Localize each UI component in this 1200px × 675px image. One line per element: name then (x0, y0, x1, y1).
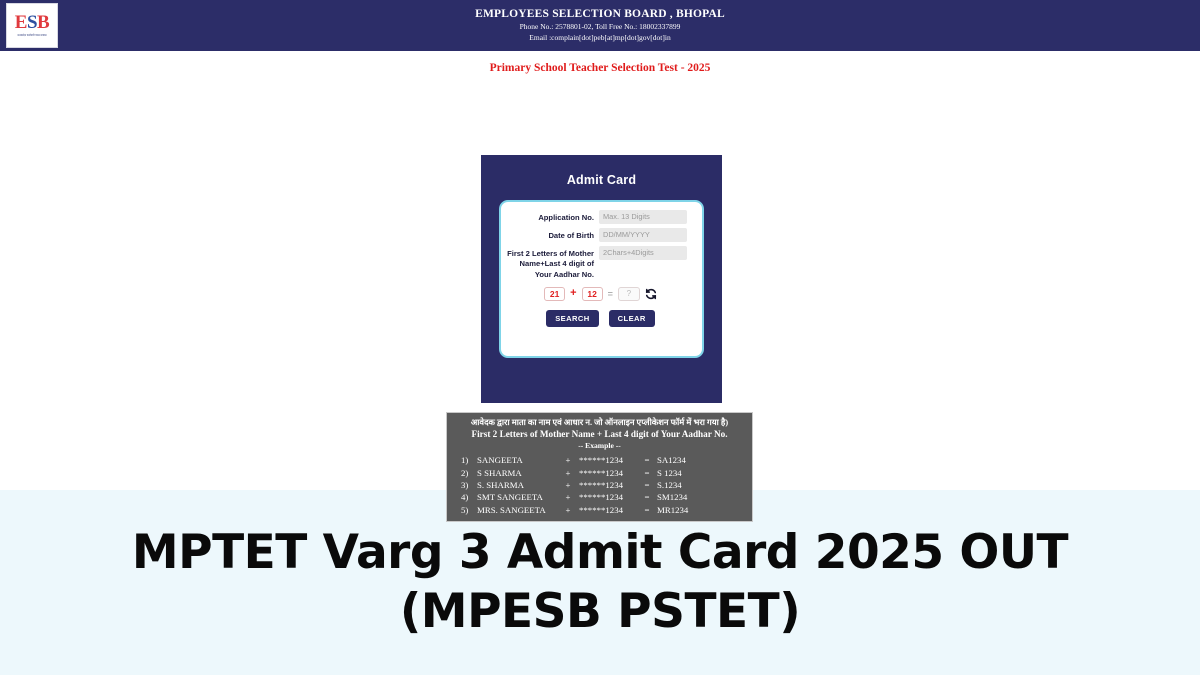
captcha-operand-left: 21 (544, 287, 565, 301)
example-result: S.1234 (655, 479, 690, 491)
date-of-birth-input[interactable] (599, 228, 687, 242)
example-plus: + (559, 479, 577, 491)
header-text-block: EMPLOYEES SELECTION BOARD , BHOPAL Phone… (475, 8, 725, 44)
banner-headline-line2: (MPESB PSTET) (400, 583, 800, 642)
board-phone: Phone No.: 2578801-02, Toll Free No.: 18… (475, 22, 725, 33)
example-index: 5) (459, 504, 475, 516)
admit-card-panel: Admit Card Application No. Date of Birth… (481, 155, 722, 403)
example-aadhar: ******1234 (577, 491, 639, 503)
example-index: 2) (459, 467, 475, 479)
table-row: 5) MRS. SANGEETA + ******1234 = MR1234 (459, 504, 690, 516)
site-header: ESB मध्यप्रदेश कर्मचारी चयन मण्डल EMPLOY… (0, 0, 1200, 51)
example-plus: + (559, 504, 577, 516)
exam-title: Primary School Teacher Selection Test - … (0, 51, 1200, 74)
example-index: 1) (459, 454, 475, 466)
captcha-answer-input[interactable]: ? (618, 287, 640, 301)
example-name: S SHARMA (475, 467, 559, 479)
example-help-box: आवेदक द्वारा माता का नाम एवं आधार न. जो … (446, 412, 753, 522)
board-title: EMPLOYEES SELECTION BOARD , BHOPAL (475, 8, 725, 20)
esb-logo-subtext: मध्यप्रदेश कर्मचारी चयन मण्डल (8, 34, 56, 37)
board-email: Email :complain[dot]peb[at]mp[dot]gov[do… (475, 33, 725, 44)
field-row-application-no: Application No. (507, 210, 694, 224)
example-aadhar: ******1234 (577, 454, 639, 466)
example-equals: = (639, 467, 655, 479)
example-result: SA1234 (655, 454, 690, 466)
example-result: S 1234 (655, 467, 690, 479)
table-row: 4) SMT SANGEETA + ******1234 = SM1234 (459, 491, 690, 503)
table-row: 1) SANGEETA + ******1234 = SA1234 (459, 454, 690, 466)
form-buttons: SEARCH CLEAR (507, 310, 694, 327)
captcha-row: 21 + 12 = ? (507, 287, 694, 301)
search-button[interactable]: SEARCH (546, 310, 598, 327)
application-no-input[interactable] (599, 210, 687, 224)
example-result: SM1234 (655, 491, 690, 503)
example-aadhar: ******1234 (577, 467, 639, 479)
mother-aadhar-input[interactable] (599, 246, 687, 260)
esb-logo-icon: ESB (15, 13, 49, 32)
mother-aadhar-label: First 2 Letters of Mother Name+Last 4 di… (507, 246, 599, 280)
example-equals: = (639, 504, 655, 516)
example-equals: = (639, 479, 655, 491)
example-equals: = (639, 454, 655, 466)
example-name: S. SHARMA (475, 479, 559, 491)
admit-card-heading: Admit Card (481, 155, 722, 187)
example-aadhar: ******1234 (577, 504, 639, 516)
example-plus: + (559, 454, 577, 466)
field-row-mother-aadhar: First 2 Letters of Mother Name+Last 4 di… (507, 246, 694, 280)
example-index: 4) (459, 491, 475, 503)
table-row: 2) S SHARMA + ******1234 = S 1234 (459, 467, 690, 479)
example-english-note: First 2 Letters of Mother Name + Last 4 … (453, 429, 746, 441)
example-name: SMT SANGEETA (475, 491, 559, 503)
clear-button[interactable]: CLEAR (609, 310, 655, 327)
example-index: 3) (459, 479, 475, 491)
field-row-date-of-birth: Date of Birth (507, 228, 694, 242)
date-of-birth-label: Date of Birth (507, 228, 599, 241)
example-plus: + (559, 491, 577, 503)
admit-card-form: Application No. Date of Birth First 2 Le… (499, 200, 704, 358)
example-plus: + (559, 467, 577, 479)
page-body: Primary School Teacher Selection Test - … (0, 51, 1200, 490)
example-table: 1) SANGEETA + ******1234 = SA1234 2) S S… (459, 454, 690, 516)
example-name: MRS. SANGEETA (475, 504, 559, 516)
example-name: SANGEETA (475, 454, 559, 466)
esb-logo: ESB मध्यप्रदेश कर्मचारी चयन मण्डल (6, 3, 58, 48)
example-equals: = (639, 491, 655, 503)
example-hindi-note: आवेदक द्वारा माता का नाम एवं आधार न. जो … (453, 418, 746, 428)
banner-headline-line1: MPTET Varg 3 Admit Card 2025 OUT (132, 524, 1068, 583)
example-result: MR1234 (655, 504, 690, 516)
captcha-operand-right: 12 (582, 287, 603, 301)
table-row: 3) S. SHARMA + ******1234 = S.1234 (459, 479, 690, 491)
captcha-equals-sign: = (608, 289, 613, 299)
captcha-operator: + (570, 288, 576, 299)
application-no-label: Application No. (507, 210, 599, 223)
example-aadhar: ******1234 (577, 479, 639, 491)
refresh-icon[interactable] (645, 288, 657, 300)
example-label: -- Example -- (453, 441, 746, 450)
